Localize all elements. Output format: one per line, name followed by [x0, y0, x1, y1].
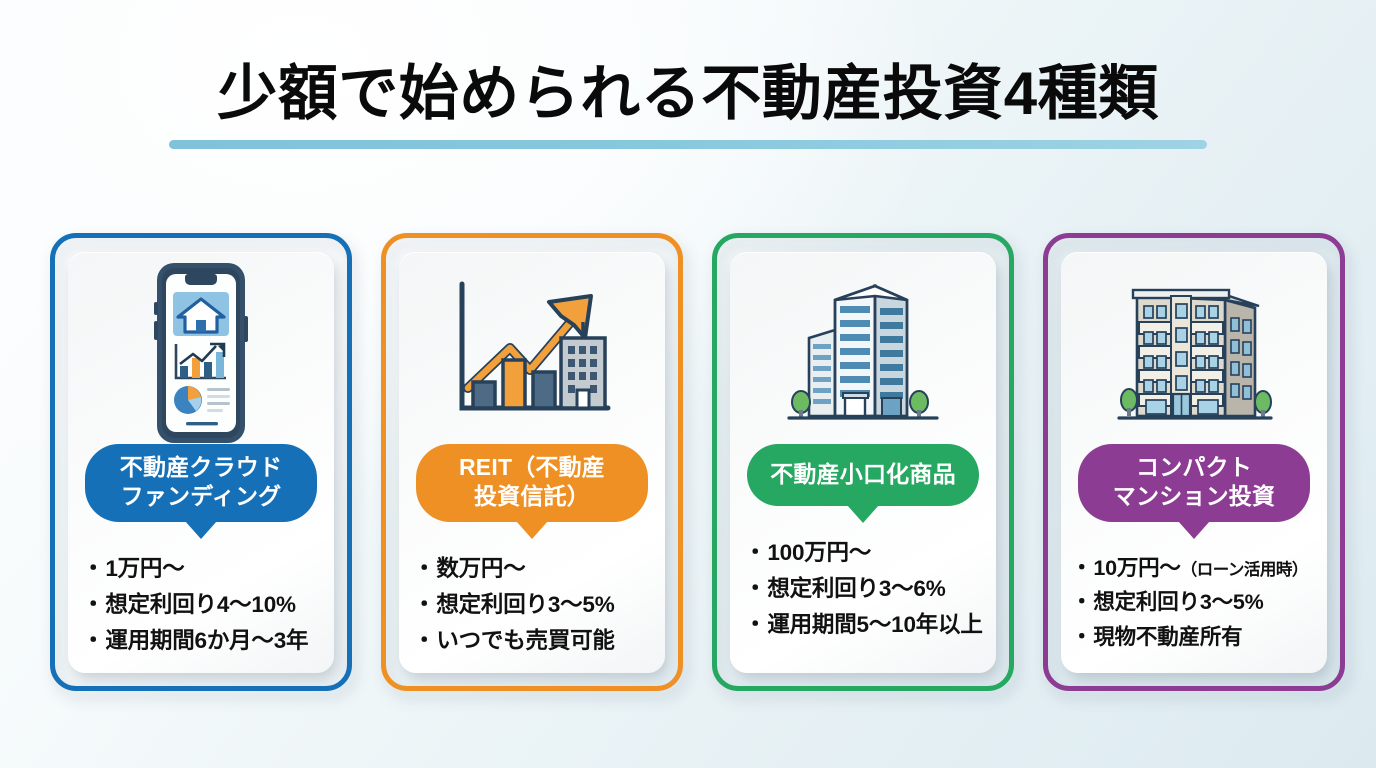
list-item: ・数万円〜 [413, 554, 653, 584]
badge-line-1: 不動産クラウド [103, 453, 299, 482]
bullet-text: 現物不動産所有 [1093, 625, 1242, 649]
badge-wrap: コンパクト マンション投資 [1061, 444, 1327, 522]
badge-tail-icon [1178, 521, 1210, 539]
title-block: 少額で始められる不動産投資4種類 [0, 62, 1376, 149]
bullet-text: 想定利回り4〜10% [105, 592, 296, 617]
bullet-text: いつでも売買可能 [436, 628, 614, 653]
card-real-estate-crowdfunding[interactable]: 不動産クラウド ファンディング ・1万円〜 ・想定利回り4〜10% ・運用期間6… [50, 233, 352, 691]
list-item: ・10万円〜（ローン活用時） [1071, 554, 1315, 583]
page-title: 少額で始められる不動産投資4種類 [0, 62, 1376, 127]
bullet-note: （ローン活用時） [1181, 561, 1308, 579]
list-item: ・想定利回り3〜5% [413, 590, 653, 620]
badge-line-2: 投資信託） [434, 482, 630, 511]
list-item: ・1万円〜 [82, 554, 322, 584]
badge-wrap: 不動産小口化商品 [730, 444, 996, 506]
badge-line-1: コンパクト [1096, 453, 1292, 482]
card-reit[interactable]: REIT（不動産 投資信託） ・数万円〜 ・想定利回り3〜5% ・いつでも売買可… [381, 233, 683, 691]
bullet-text: 運用期間6か月〜3年 [105, 628, 308, 653]
badge-fractional-real-estate: 不動産小口化商品 [747, 444, 979, 506]
bullet-text: 数万円〜 [436, 556, 525, 581]
card-inner-panel: REIT（不動産 投資信託） ・数万円〜 ・想定利回り3〜5% ・いつでも売買可… [399, 252, 665, 673]
bullet-text: 運用期間5〜10年以上 [767, 612, 982, 637]
apartment-building-icon [1061, 252, 1327, 448]
bullet-text: 1万円〜 [105, 556, 184, 581]
bullet-list: ・1万円〜 ・想定利回り4〜10% ・運用期間6か月〜3年 [68, 554, 334, 656]
badge-wrap: REIT（不動産 投資信託） [399, 444, 665, 522]
badge-line-1: REIT（不動産 [434, 453, 630, 482]
growth-chart-building-icon [399, 252, 665, 448]
smartphone-investment-app-icon [68, 252, 334, 448]
badge-tail-icon [185, 521, 217, 539]
bullet-text: 100万円〜 [767, 540, 871, 565]
badge-wrap: 不動産クラウド ファンディング [68, 444, 334, 522]
list-item: ・運用期間6か月〜3年 [82, 626, 322, 656]
bullet-text: 10万円〜 [1093, 556, 1180, 580]
list-item: ・100万円〜 [744, 538, 984, 568]
bullet-text: 想定利回り3〜5% [436, 592, 614, 617]
card-inner-panel: コンパクト マンション投資 ・10万円〜（ローン活用時） ・想定利回り3〜5% … [1061, 252, 1327, 673]
bullet-text: 想定利回り3〜6% [767, 576, 945, 601]
bullet-list: ・数万円〜 ・想定利回り3〜5% ・いつでも売買可能 [399, 554, 665, 656]
card-inner-panel: 不動産小口化商品 ・100万円〜 ・想定利回り3〜6% ・運用期間5〜10年以上 [730, 252, 996, 673]
list-item: ・運用期間5〜10年以上 [744, 610, 984, 640]
title-underline-bar [169, 140, 1207, 149]
card-fractional-real-estate[interactable]: 不動産小口化商品 ・100万円〜 ・想定利回り3〜6% ・運用期間5〜10年以上 [712, 233, 1014, 691]
bullet-text: 想定利回り3〜5% [1093, 590, 1263, 614]
list-item: ・現物不動産所有 [1071, 623, 1315, 652]
list-item: ・想定利回り4〜10% [82, 590, 322, 620]
badge-compact-condo-investment: コンパクト マンション投資 [1078, 444, 1310, 522]
office-towers-icon [730, 252, 996, 448]
badge-line-2: マンション投資 [1096, 482, 1292, 511]
badge-line-2: ファンディング [103, 482, 299, 511]
badge-real-estate-crowdfunding: 不動産クラウド ファンディング [85, 444, 317, 522]
badge-tail-icon [847, 505, 879, 523]
badge-line-1: 不動産小口化商品 [765, 460, 961, 489]
card-compact-condo-investment[interactable]: コンパクト マンション投資 ・10万円〜（ローン活用時） ・想定利回り3〜5% … [1043, 233, 1345, 691]
bullet-list: ・100万円〜 ・想定利回り3〜6% ・運用期間5〜10年以上 [730, 538, 996, 640]
list-item: ・想定利回り3〜5% [1071, 588, 1315, 617]
badge-tail-icon [516, 521, 548, 539]
bullet-list: ・10万円〜（ローン活用時） ・想定利回り3〜5% ・現物不動産所有 [1061, 554, 1327, 652]
card-inner-panel: 不動産クラウド ファンディング ・1万円〜 ・想定利回り4〜10% ・運用期間6… [68, 252, 334, 673]
badge-reit: REIT（不動産 投資信託） [416, 444, 648, 522]
list-item: ・いつでも売買可能 [413, 626, 653, 656]
list-item: ・想定利回り3〜6% [744, 574, 984, 604]
investment-types-card-row: 不動産クラウド ファンディング ・1万円〜 ・想定利回り4〜10% ・運用期間6… [50, 233, 1350, 691]
